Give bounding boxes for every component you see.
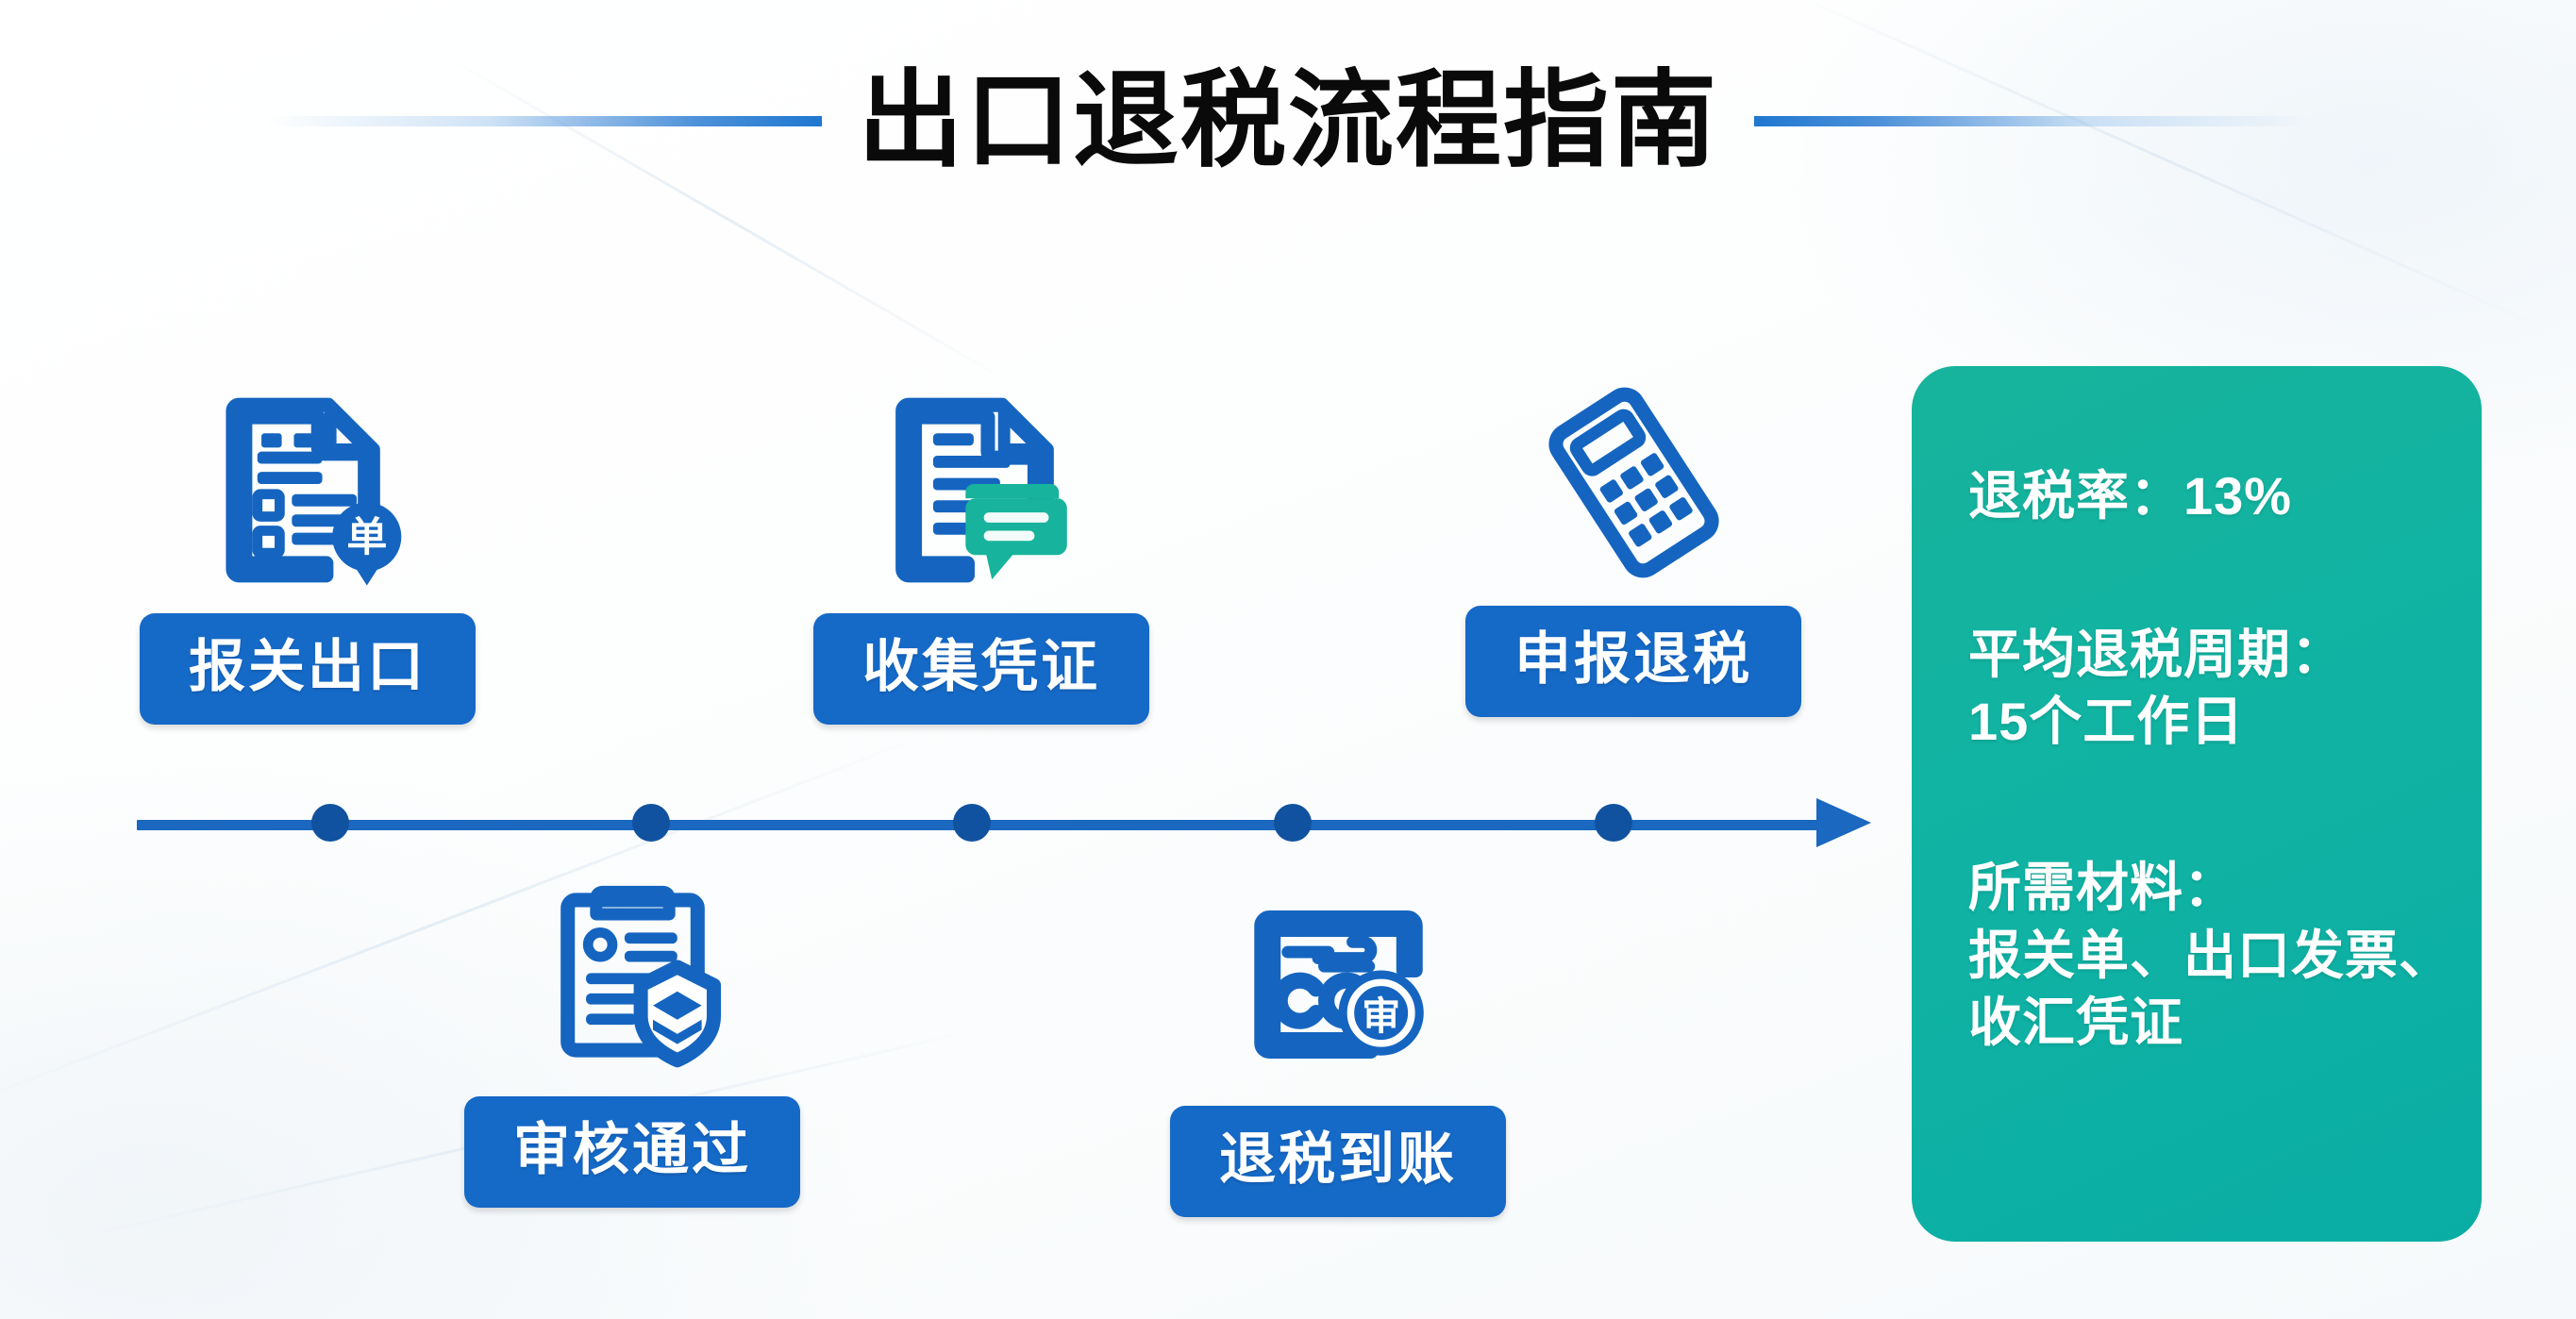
step-node-2[interactable]: 收集凭证 <box>813 381 1149 725</box>
required-materials-block: 所需材料： 报关单、出口发票、 收汇凭证 <box>1968 854 2482 1057</box>
step-label-2[interactable]: 收集凭证 <box>813 613 1149 725</box>
materials-value-1: 报关单、出口发票、 <box>1968 922 2482 990</box>
step-node-3[interactable]: 申报退税 <box>1465 374 1801 717</box>
step-label-3[interactable]: 申报退税 <box>1465 606 1801 717</box>
account-seal-icon: 审 <box>1229 876 1447 1093</box>
info-panel: 退税率：13% 平均退税周期： 15个工作日 所需材料： 报关单、出口发票、 收… <box>1912 366 2482 1242</box>
title-bar: 出口退税流程指南 <box>0 64 2576 177</box>
step-node-4[interactable]: 审核通过 <box>464 866 800 1208</box>
infographic-canvas: 出口退税流程指南 <box>0 0 2576 1319</box>
refund-rate-text: 退税率：13% <box>1968 462 2482 530</box>
timeline-dot-2 <box>632 804 670 842</box>
title-rule-left <box>265 116 822 126</box>
refund-cycle-block: 平均退税周期： 15个工作日 <box>1968 621 2482 756</box>
materials-label: 所需材料： <box>1968 854 2482 922</box>
refund-cycle-label: 平均退税周期： <box>1968 621 2482 689</box>
step-label-5[interactable]: 退税到账 <box>1170 1106 1506 1217</box>
page-title: 出口退税流程指南 <box>822 68 1754 174</box>
clipboard-shield-icon <box>524 866 741 1083</box>
step-node-1[interactable]: 单 报关出口 <box>140 381 476 725</box>
timeline-dot-1 <box>311 804 349 842</box>
timeline-dot-4 <box>1274 804 1312 842</box>
document-chat-icon <box>873 381 1090 598</box>
step-label-1[interactable]: 报关出口 <box>140 613 476 725</box>
step-label-4[interactable]: 审核通过 <box>464 1096 800 1208</box>
title-rule-right <box>1754 116 2311 126</box>
svg-text:单: 单 <box>346 515 387 560</box>
svg-text:审: 审 <box>1362 993 1400 1037</box>
document-declaration-icon: 单 <box>199 381 416 598</box>
step-node-5[interactable]: 审 退税到账 <box>1170 876 1506 1217</box>
timeline-dot-5 <box>1595 804 1632 842</box>
refund-cycle-value: 15个工作日 <box>1968 688 2482 756</box>
calculator-icon <box>1525 374 1742 591</box>
timeline-axis <box>137 817 1871 828</box>
timeline-dot-3 <box>953 804 991 842</box>
arrow-right-icon <box>1816 798 1871 847</box>
refund-rate-block: 退税率：13% <box>1968 462 2482 530</box>
materials-value-2: 收汇凭证 <box>1968 989 2482 1057</box>
